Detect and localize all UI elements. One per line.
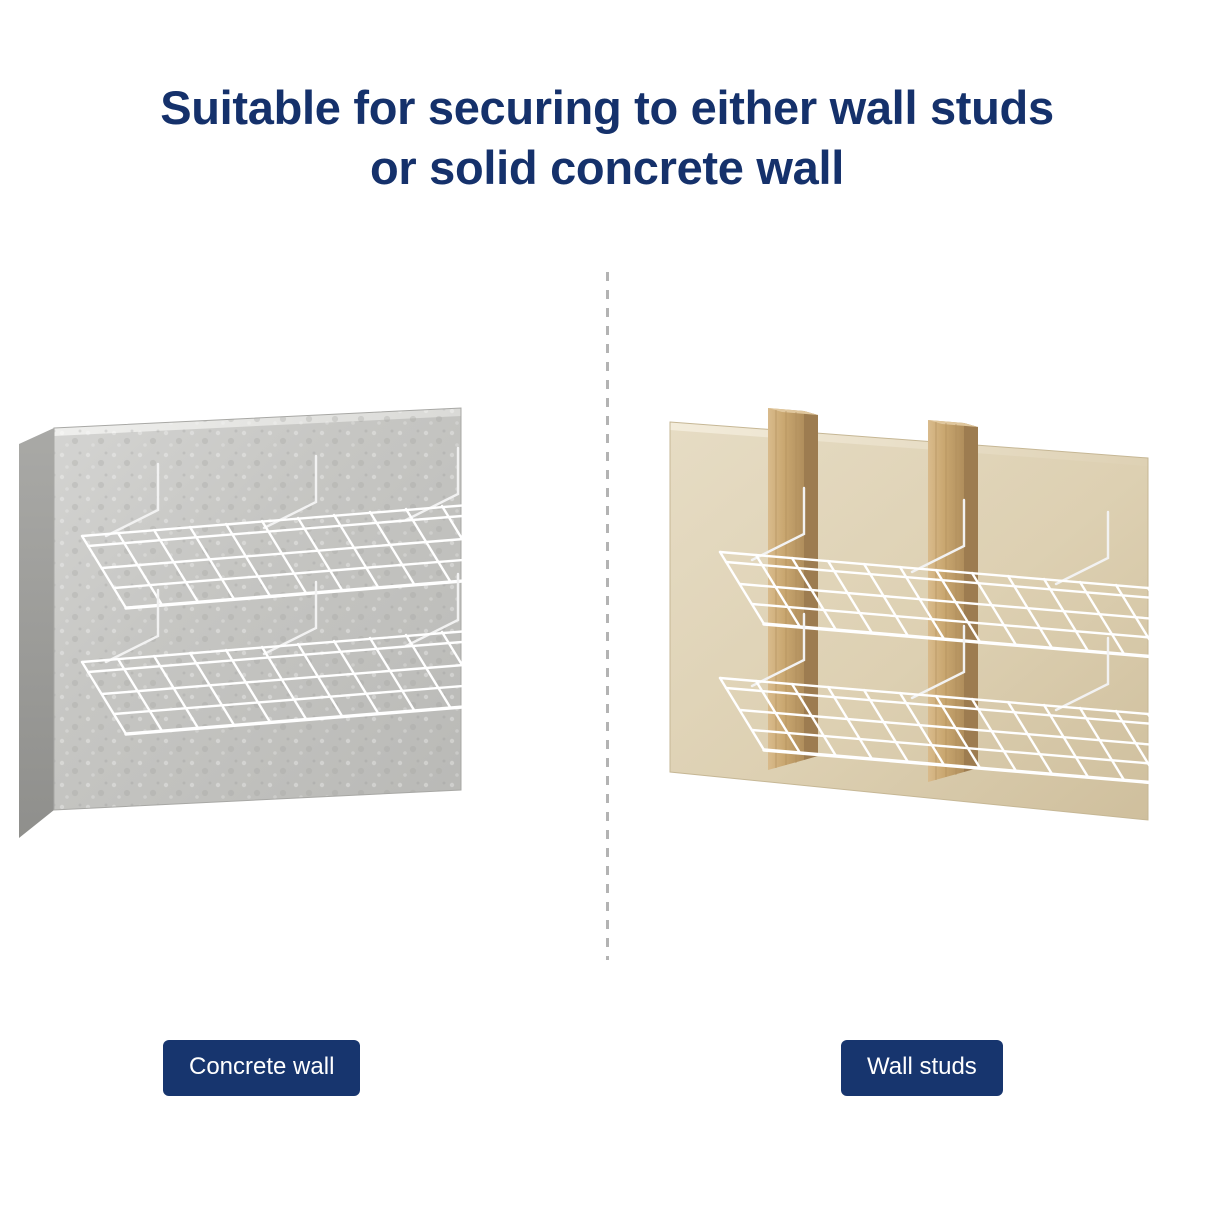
- label-concrete-wall-text: Concrete wall: [189, 1053, 334, 1080]
- page-title: Suitable for securing to either wall stu…: [0, 78, 1214, 198]
- page-title-line-1: Suitable for securing to either wall stu…: [0, 78, 1214, 138]
- label-wall-studs: Wall studs: [841, 1040, 1003, 1096]
- wall-studs-illustration: [608, 340, 1208, 900]
- concrete-slab: [19, 408, 461, 838]
- page-title-line-2: or solid concrete wall: [0, 138, 1214, 198]
- label-concrete-wall: Concrete wall: [163, 1040, 360, 1096]
- concrete-wall-illustration: [6, 340, 606, 900]
- panel-wall-studs: [608, 340, 1208, 900]
- panel-concrete-wall: [6, 340, 606, 900]
- label-wall-studs-text: Wall studs: [867, 1053, 977, 1080]
- drywall-sheet: [670, 422, 1148, 820]
- page-root: Suitable for securing to either wall stu…: [0, 0, 1214, 1214]
